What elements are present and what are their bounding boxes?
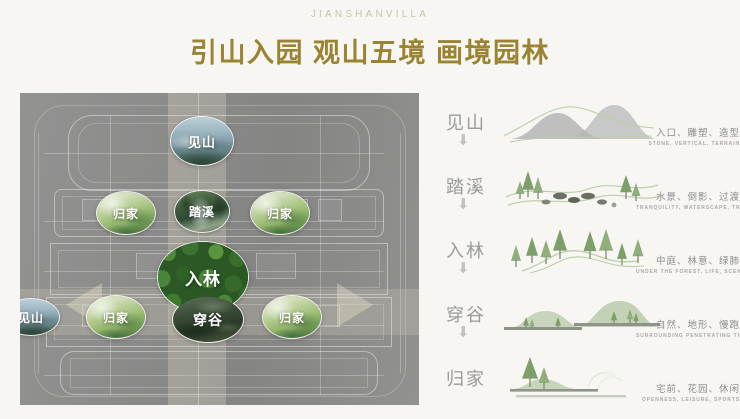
- plan-bubble-label: 穿谷: [193, 310, 223, 330]
- plan-bubble-label: 归家: [113, 205, 139, 222]
- plan-bubble-label: 归家: [103, 309, 129, 326]
- flow-stage-3[interactable]: 入林 中庭、林意、绿肺UNDER THE FOREST, LIFE, SCENE: [440, 223, 740, 281]
- description-cn: 中庭、林意、绿肺: [636, 253, 740, 267]
- flow-stage-description: 宅前、花园、休闲OPENNESS, LEISURE, SPORTS: [636, 381, 740, 403]
- plan-arrow-right-icon: [337, 283, 373, 327]
- plan-bubble-label: 踏溪: [189, 203, 215, 220]
- flow-stage-description: 自然、地形、慢跑SURROUNDING PENETRATING THE SCEN…: [636, 317, 740, 339]
- flow-stage-description: 中庭、林意、绿肺UNDER THE FOREST, LIFE, SCENE: [636, 253, 740, 275]
- flow-stage-description: 水景、倒影、过渡TRANQUILITY, WATERSCAPE, TRANSIT…: [636, 189, 740, 211]
- description-en: SURROUNDING PENETRATING THE SCENE: [636, 333, 740, 339]
- description-cn: 自然、地形、慢跑: [636, 317, 740, 331]
- plan-bubble-label: 入林: [185, 265, 221, 290]
- flow-arrow-down-icon: ⬇: [457, 197, 470, 212]
- flow-arrow-down-icon: ⬇: [457, 325, 470, 340]
- brand-wordmark: JIANSHANVILLA: [0, 9, 740, 20]
- description-en: TRANQUILITY, WATERSCAPE, TRANSITION: [636, 205, 740, 211]
- flow-arrow-down-icon: ⬇: [457, 133, 470, 148]
- plan-bubble-见山[interactable]: 见山: [20, 298, 60, 336]
- plan-bubble-归家[interactable]: 归家: [96, 191, 156, 235]
- plan-bubble-label: 归家: [267, 205, 293, 222]
- flow-stage-description: 入口、雕塑、造型STONE, VERTICAL, TERRAIN: [636, 125, 740, 147]
- page-title: 引山入园 观山五境 画境园林: [0, 31, 740, 70]
- flow-stage-2[interactable]: 踏溪 水景、倒影、过渡TRANQUILITY, WATERSCAPE, TRAN…: [440, 159, 740, 217]
- plan-bubble-归家[interactable]: 归家: [86, 295, 146, 339]
- flow-stage-label: 归家: [446, 365, 486, 391]
- plan-bubble-label: 见山: [20, 309, 44, 326]
- description-cn: 宅前、花园、休闲: [636, 381, 740, 395]
- plan-bubble-归家[interactable]: 归家: [250, 191, 310, 235]
- description-en: OPENNESS, LEISURE, SPORTS: [636, 397, 740, 403]
- slide-root: JIANSHANVILLA 引山入园 观山五境 画境园林: [0, 0, 740, 419]
- plan-bubble-见山[interactable]: 见山: [170, 116, 234, 166]
- journey-flow-panel: 见山 入口、雕塑、造型STONE, VERTICAL, TERRAIN⬇踏溪: [440, 95, 740, 415]
- description-en: STONE, VERTICAL, TERRAIN: [636, 141, 740, 147]
- description-cn: 入口、雕塑、造型: [636, 125, 740, 139]
- plan-bubble-label: 见山: [188, 132, 216, 151]
- plan-bubble-label: 归家: [279, 309, 305, 326]
- site-plan-image: 见山踏溪归家归家入林见山归家穿谷归家: [20, 93, 419, 405]
- description-en: UNDER THE FOREST, LIFE, SCENE: [636, 269, 740, 275]
- flow-arrow-down-icon: ⬇: [457, 261, 470, 276]
- plan-bubble-归家[interactable]: 归家: [262, 295, 322, 339]
- flow-stage-4[interactable]: 穿谷 自然、地形、慢跑SURROUNDING PENETRATING THE S…: [440, 287, 740, 345]
- description-cn: 水景、倒影、过渡: [636, 189, 740, 203]
- plan-bubble-穿谷[interactable]: 穿谷: [172, 296, 244, 343]
- flow-stage-5[interactable]: 归家 宅前、花园、休闲OPENNESS, LEISURE, SPORTS: [440, 351, 740, 409]
- plan-bubble-踏溪[interactable]: 踏溪: [174, 190, 230, 233]
- flow-stage-1[interactable]: 见山 入口、雕塑、造型STONE, VERTICAL, TERRAIN: [440, 95, 740, 153]
